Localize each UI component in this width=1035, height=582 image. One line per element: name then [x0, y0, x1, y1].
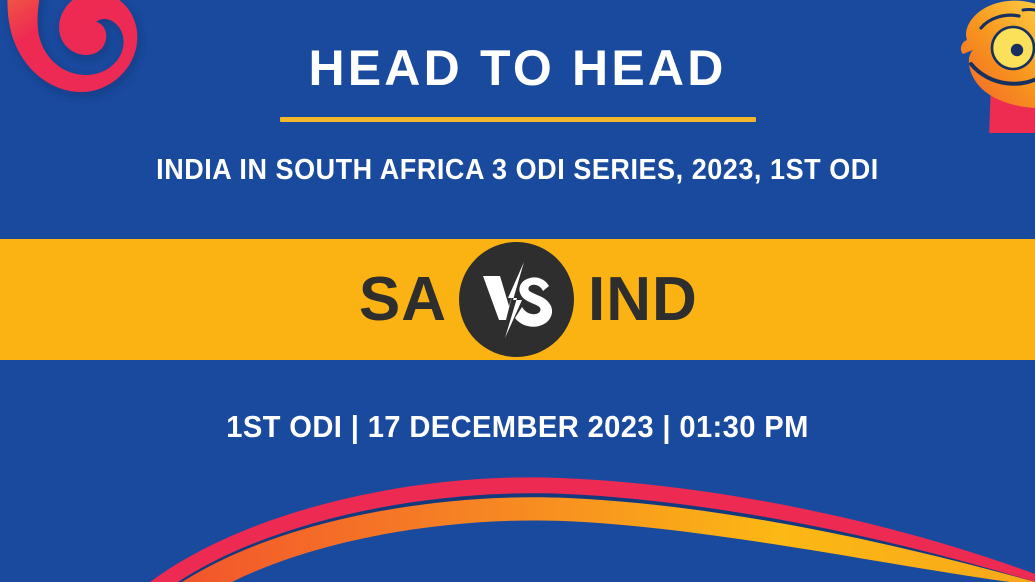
- versus-logo-icon: [475, 258, 559, 342]
- bottom-wave-decoration: [0, 462, 1035, 582]
- title-block: HEAD TO HEAD: [0, 42, 1035, 122]
- head-to-head-graphic: HEAD TO HEAD INDIA IN SOUTH AFRICA 3 ODI…: [0, 0, 1035, 582]
- fixture-details-line: 1ST ODI | 17 DECEMBER 2023 | 01:30 PM: [31, 409, 1004, 445]
- series-subtitle: INDIA IN SOUTH AFRICA 3 ODI SERIES, 2023…: [36, 154, 999, 187]
- home-team-code: SA: [279, 269, 459, 331]
- versus-badge: [459, 242, 574, 357]
- page-title: HEAD TO HEAD: [0, 42, 1035, 95]
- versus-band: SA IND: [0, 239, 1035, 360]
- away-team-code: IND: [574, 269, 756, 331]
- title-underline-rule: [280, 117, 756, 122]
